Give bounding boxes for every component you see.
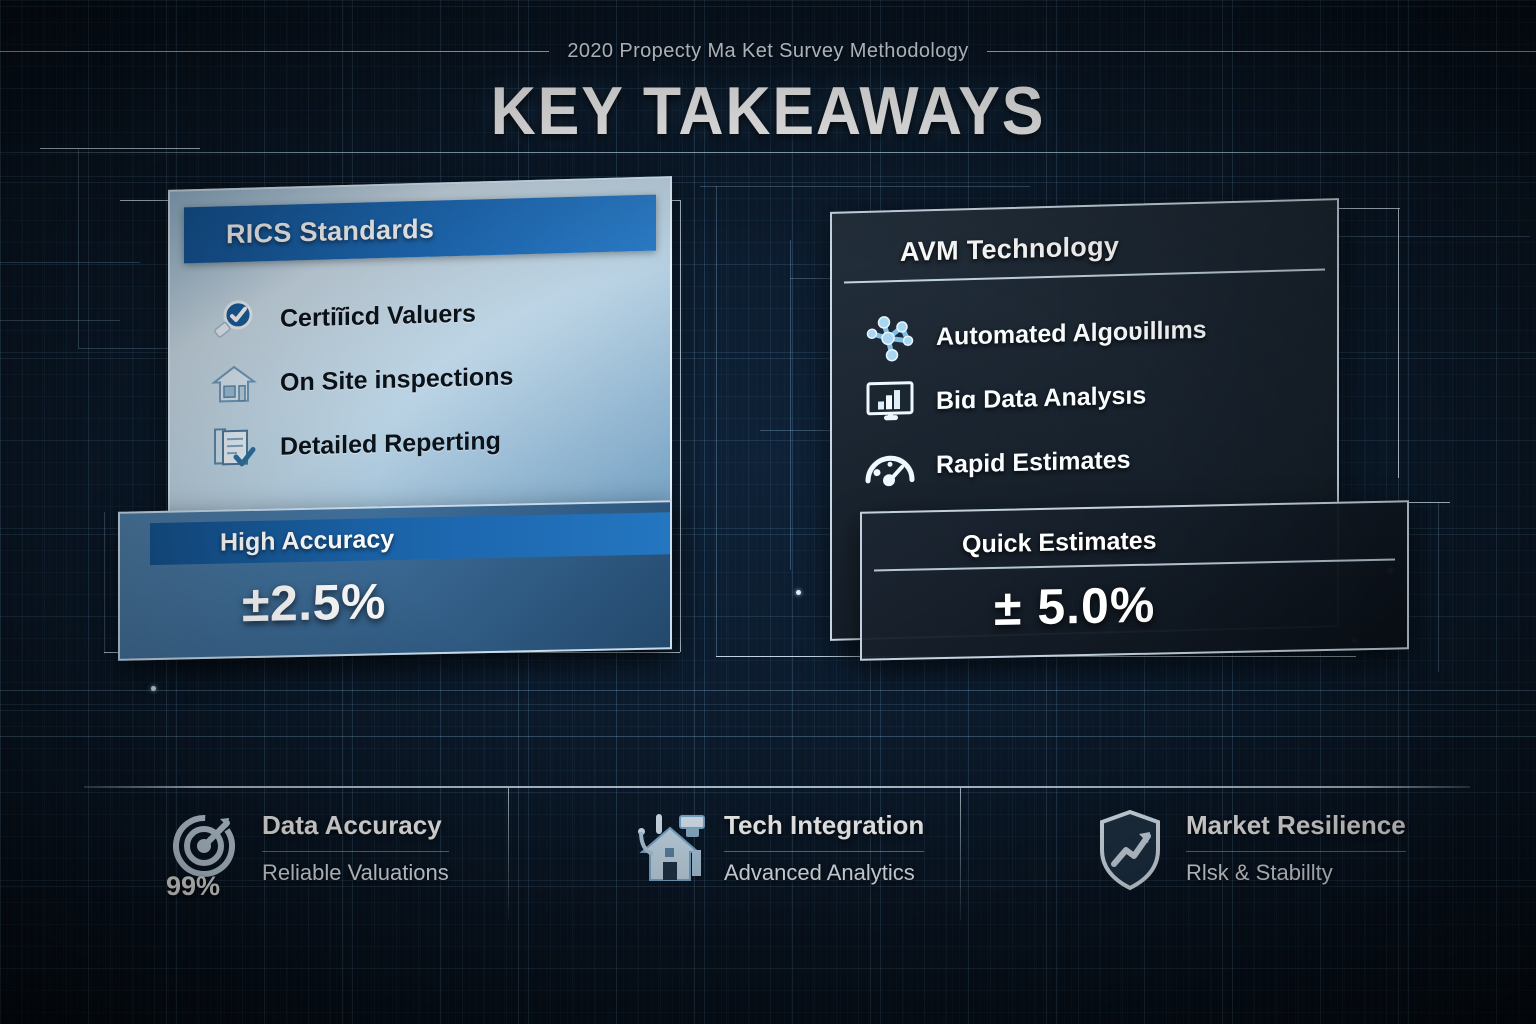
panel-avm-header: AVM Technology <box>844 212 1325 283</box>
wireframe-line <box>0 262 140 263</box>
metric-quick-estimates: Quick Estimates ± 5.0% <box>860 500 1409 660</box>
list-item-label: Certiĩicd Valuers <box>280 299 476 333</box>
metric-high-accuracy-header: High Accuracy <box>150 512 670 565</box>
house-icon <box>208 357 260 410</box>
wireframe-line <box>0 690 1536 691</box>
magnifier-check-icon <box>208 293 260 346</box>
wireframe-line <box>680 200 681 652</box>
metric-quick-estimates-value: ± 5.0% <box>994 570 1407 637</box>
wireframe-line <box>790 240 791 570</box>
footer-item-market-resilience: Market Resilience Rlsk & Stabillty <box>1008 788 1470 938</box>
metric-quick-estimates-header: Quick Estimates <box>874 513 1395 572</box>
wireframe-line <box>716 186 717 656</box>
shield-arrow-icon <box>1094 806 1170 896</box>
footer-badge: 99% <box>166 871 220 902</box>
list-item: Rapid Estimates <box>864 422 1337 499</box>
wireframe-line <box>1330 208 1400 209</box>
wireframe-line <box>1398 208 1399 478</box>
subtitle-row: 2020 Propecty Ma Ket Survey Methodology <box>0 34 1536 68</box>
list-item: Detailed Reperting <box>208 404 670 481</box>
footer-item-subtitle: Rlsk & Stabillty <box>1186 860 1406 886</box>
target-rings-icon: 99% <box>170 806 246 896</box>
footer-item-title: Market Resilience <box>1186 810 1406 841</box>
list-item-label: Detailed Reperting <box>280 426 501 461</box>
metric-high-accuracy-value: ±2.5% <box>242 566 670 633</box>
wireframe-line <box>700 186 1030 187</box>
rule-right <box>987 51 1536 52</box>
smart-house-icon <box>632 806 708 896</box>
wireframe-line <box>78 148 79 348</box>
monitor-chart-icon <box>864 376 916 429</box>
panel-rics-list: Certiĩicd Valuers On Site inspections <box>208 276 670 481</box>
molecule-network-icon <box>864 312 916 365</box>
page-title: KEY TAKEAWAYS <box>61 72 1474 150</box>
panel-rics-title: RICS Standards <box>226 213 434 250</box>
footer: 99% Data Accuracy Reliable Valuations <box>84 788 1470 938</box>
rule-left <box>0 51 549 52</box>
footer-item-text: Market Resilience Rlsk & Stabillty <box>1186 806 1406 886</box>
footer-item-data-accuracy: 99% Data Accuracy Reliable Valuations <box>84 788 546 938</box>
panel-rics-header: RICS Standards <box>184 195 656 264</box>
metric-high-accuracy: High Accuracy ±2.5% <box>118 500 672 661</box>
wireframe-node <box>151 686 156 691</box>
footer-item-divider <box>1186 851 1406 852</box>
footer-item-text: Data Accuracy Reliable Valuations <box>262 806 449 886</box>
title-underline <box>0 152 1536 153</box>
footer-item-title: Tech Integration <box>724 810 924 841</box>
footer-item-divider <box>262 851 449 852</box>
list-item-label: Rapid Estimates <box>936 445 1131 479</box>
list-item-label: Automated Algoʋillıms <box>936 315 1207 351</box>
footer-item-tech-integration: Tech Integration Advanced Analytics <box>546 788 1008 938</box>
footer-item-title: Data Accuracy <box>262 810 449 841</box>
footer-item-subtitle: Reliable Valuations <box>262 860 449 886</box>
panel-avm-title: AVM Technology <box>900 231 1119 268</box>
footer-item-divider <box>724 851 924 852</box>
wireframe-line <box>0 736 1536 737</box>
wireframe-node <box>796 590 801 595</box>
document-check-icon <box>208 421 260 474</box>
footer-item-subtitle: Advanced Analytics <box>724 860 924 886</box>
list-item-label: On Site inspections <box>280 362 513 397</box>
subtitle: 2020 Propecty Ma Ket Survey Methodology <box>567 40 968 63</box>
wireframe-line <box>0 320 120 321</box>
metric-high-accuracy-label: High Accuracy <box>220 525 394 558</box>
metric-quick-estimates-label: Quick Estimates <box>962 526 1157 559</box>
panel-avm-list: Automated Algoʋillıms Biɑ Data Analysıs <box>864 294 1337 499</box>
list-item-label: Biɑ Data Analysıs <box>936 381 1146 416</box>
infographic-canvas: 2020 Propecty Ma Ket Survey Methodology … <box>0 0 1536 1024</box>
wireframe-line <box>1438 502 1439 672</box>
footer-item-text: Tech Integration Advanced Analytics <box>724 806 924 886</box>
gauge-icon <box>864 440 916 493</box>
wireframe-line <box>104 512 105 654</box>
